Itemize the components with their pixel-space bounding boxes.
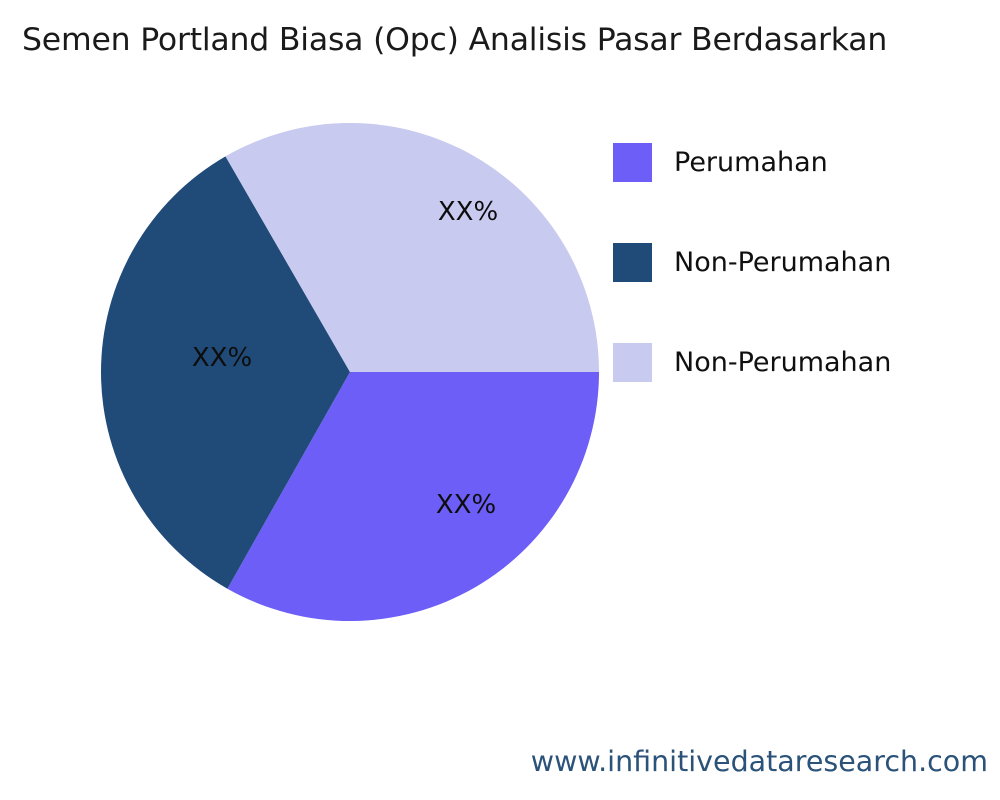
pie-chart: XX%XX%XX% bbox=[0, 0, 700, 700]
legend-label-2: Non-Perumahan bbox=[674, 349, 891, 376]
legend-item-0[interactable]: Perumahan bbox=[613, 112, 993, 212]
pie-slice-label-0: XX% bbox=[436, 490, 496, 520]
source-url[interactable]: www.infinitivedataresearch.com bbox=[531, 745, 988, 778]
pie-slice-label-1: XX% bbox=[192, 343, 252, 373]
legend: Perumahan Non-Perumahan Non-Perumahan bbox=[613, 112, 993, 412]
pie-slice-label-2: XX% bbox=[438, 197, 498, 227]
legend-swatch-icon-1 bbox=[613, 243, 652, 282]
legend-swatch-icon-2 bbox=[613, 343, 652, 382]
pie-slice-group bbox=[101, 123, 599, 621]
legend-item-2[interactable]: Non-Perumahan bbox=[613, 312, 993, 412]
legend-swatch-icon-0 bbox=[613, 143, 652, 182]
legend-item-1[interactable]: Non-Perumahan bbox=[613, 212, 993, 312]
legend-label-0: Perumahan bbox=[674, 149, 828, 176]
legend-label-1: Non-Perumahan bbox=[674, 249, 891, 276]
pie-chart-svg bbox=[0, 0, 700, 700]
